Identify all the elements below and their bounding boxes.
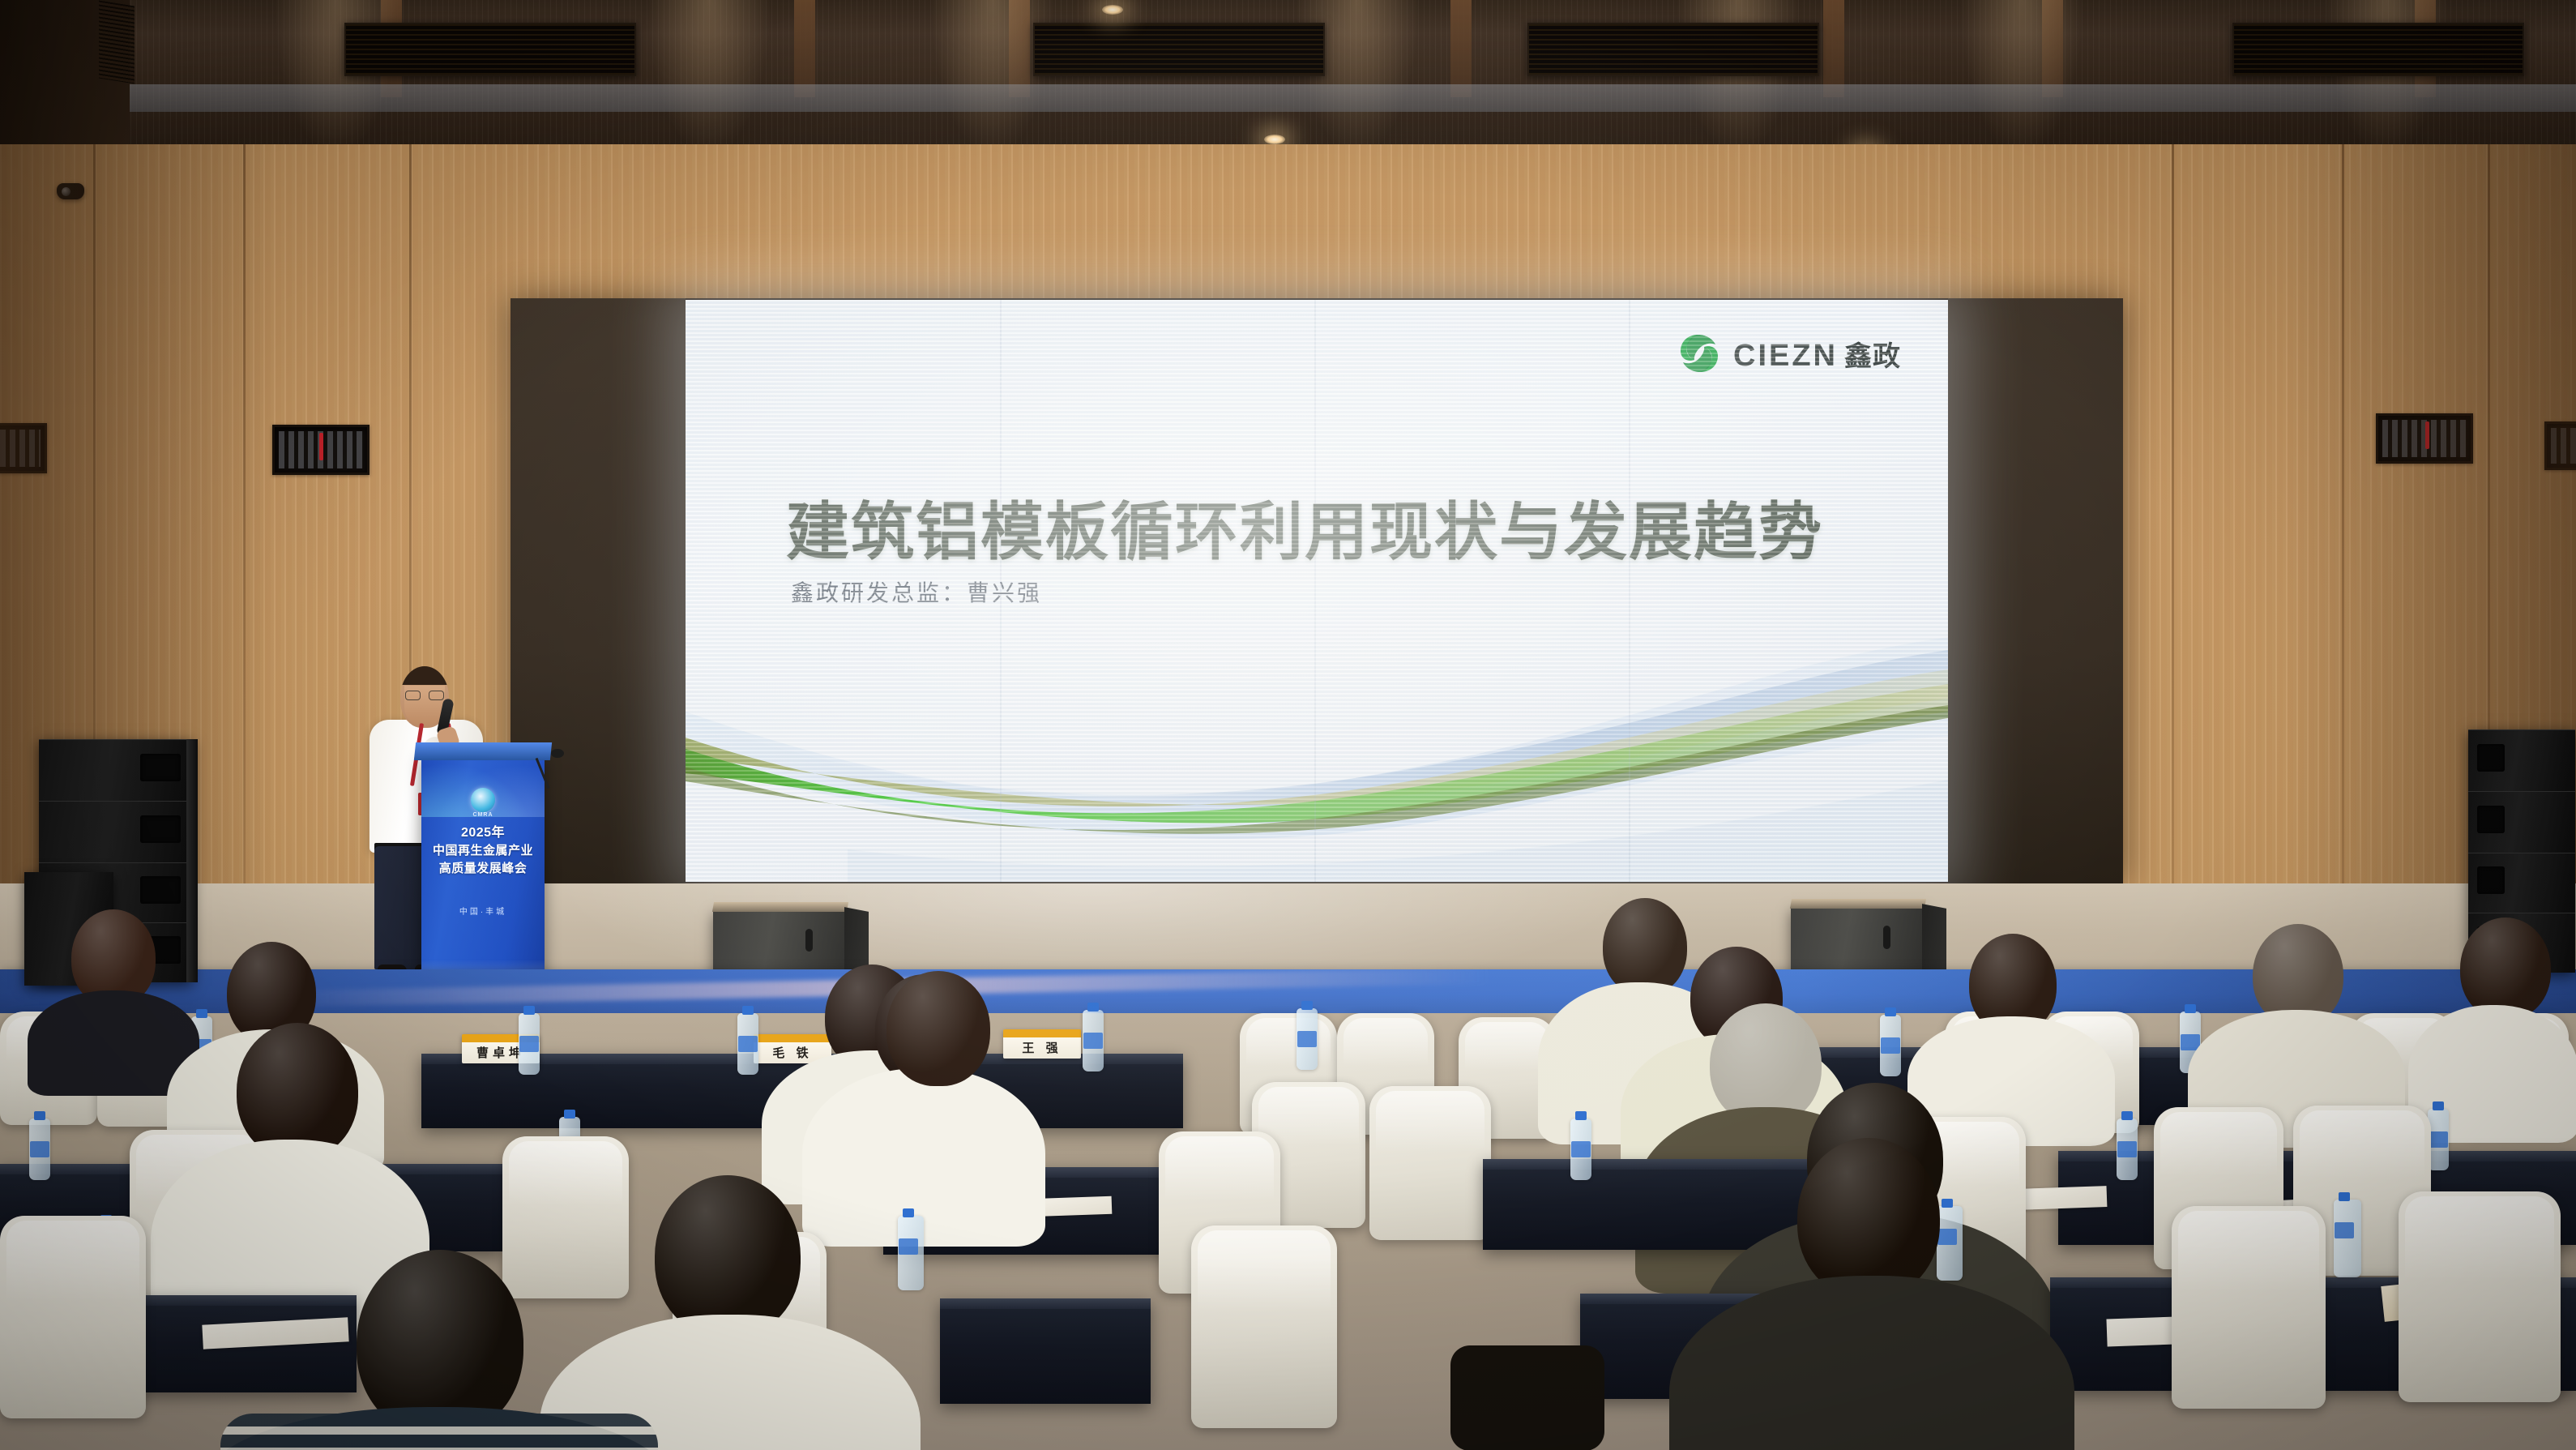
ciezn-leaf-mark-icon bbox=[1677, 331, 1722, 376]
line-array-module bbox=[39, 739, 193, 801]
audience-chair bbox=[1191, 1225, 1337, 1428]
ceiling-beam bbox=[1450, 0, 1472, 97]
water-bottle bbox=[1937, 1206, 1963, 1281]
audience-shoulders bbox=[802, 1068, 1045, 1247]
microphone-capsule-icon bbox=[551, 749, 564, 758]
cmra-logo-icon bbox=[471, 788, 495, 812]
slide-title: 建筑铝模板循环利用现状与发展趋势 bbox=[786, 481, 1823, 572]
water-bottle bbox=[519, 1013, 540, 1075]
slide-logo-cjk: 鑫政 bbox=[1844, 334, 1901, 374]
table-top-edge bbox=[940, 1298, 1151, 1309]
stage-monitor-wedge bbox=[1791, 906, 1925, 976]
audience-head bbox=[1797, 1138, 1940, 1298]
water-bottle bbox=[29, 1119, 50, 1180]
audience-striped-shirt bbox=[220, 1414, 658, 1450]
cmra-logo-text: CMRA bbox=[473, 812, 493, 818]
conference-hall-scene: CIEZN 鑫政 建筑铝模板循环利用现状与发展趋势 鑫政研发总监：曹兴强 bbox=[0, 0, 2576, 1450]
audience-table bbox=[940, 1298, 1151, 1404]
wall-decorative-niche bbox=[272, 425, 370, 475]
water-bottle bbox=[2334, 1200, 2361, 1277]
water-bottle bbox=[1880, 1015, 1901, 1076]
audience-chair bbox=[2172, 1206, 2326, 1409]
audience-head bbox=[237, 1023, 358, 1159]
ceiling-downlight bbox=[1102, 5, 1123, 15]
water-bottle bbox=[2117, 1119, 2138, 1180]
led-panel-seam bbox=[1629, 300, 1630, 882]
ceiling-air-grille bbox=[1033, 23, 1325, 76]
ceiling-air-grille bbox=[1527, 23, 1819, 76]
table-nameplate: 王 强 bbox=[1003, 1029, 1081, 1059]
stage-monitor-wedge bbox=[713, 909, 848, 977]
array-port bbox=[2477, 744, 2505, 772]
ceiling-corner-shadow bbox=[0, 0, 130, 152]
screen-recess: CIEZN 鑫政 建筑铝模板循环利用现状与发展趋势 鑫政研发总监：曹兴强 bbox=[511, 298, 2123, 883]
ceiling bbox=[0, 0, 2576, 152]
led-video-wall[interactable]: CIEZN 鑫政 建筑铝模板循环利用现状与发展趋势 鑫政研发总监：曹兴强 bbox=[686, 300, 1948, 882]
line-array-module bbox=[2468, 853, 2575, 913]
slide-subtitle: 鑫政研发总监：曹兴强 bbox=[791, 575, 1042, 608]
slide-wave-graphic bbox=[686, 614, 1948, 882]
audience-chair bbox=[1369, 1086, 1491, 1240]
screen-side-panel-right bbox=[1948, 298, 2123, 883]
array-port bbox=[140, 876, 180, 904]
wedge-port-slot bbox=[1883, 926, 1890, 949]
podium-line-year: 2025年 bbox=[421, 823, 545, 842]
nameplate-text: 曹卓坤 bbox=[476, 1044, 525, 1061]
niche-red-accent bbox=[319, 433, 323, 461]
slide-logo-text: CIEZN 鑫政 bbox=[1733, 334, 1901, 374]
audience-chair bbox=[2399, 1191, 2561, 1402]
audience-chair bbox=[502, 1136, 629, 1298]
audience-head bbox=[2460, 917, 2551, 1020]
podium: CMRA 2025年 中国再生金属产业 高质量发展峰会 中国·丰城 bbox=[421, 754, 545, 997]
nameplate-text: 王 强 bbox=[1022, 1039, 1062, 1056]
slide-logo-latin: CIEZN bbox=[1733, 339, 1838, 374]
ceiling-beam bbox=[1009, 0, 1030, 97]
ceiling-beam bbox=[2042, 0, 2063, 97]
water-bottle bbox=[898, 1216, 924, 1290]
water-bottle bbox=[1083, 1010, 1104, 1071]
ceiling-downlight bbox=[1264, 135, 1285, 144]
line-array-module bbox=[2468, 791, 2575, 853]
slide-logo: CIEZN 鑫政 bbox=[1677, 331, 1901, 376]
line-array-module bbox=[39, 801, 193, 862]
array-port bbox=[2477, 866, 2505, 894]
array-port bbox=[140, 754, 180, 782]
wall-panel-seam bbox=[2172, 144, 2174, 965]
podium-line-industry: 中国再生金属产业 bbox=[421, 842, 545, 860]
podium-event-title: 2025年 中国再生金属产业 高质量发展峰会 bbox=[421, 823, 545, 878]
audience-head bbox=[655, 1175, 801, 1337]
line-array-module bbox=[2468, 729, 2575, 791]
audience-bag bbox=[1450, 1345, 1604, 1450]
audience-chair bbox=[0, 1216, 146, 1418]
podium-city-label: 中国·丰城 bbox=[421, 905, 545, 917]
array-port bbox=[2477, 806, 2505, 834]
audience-head bbox=[886, 971, 990, 1086]
led-panel-seam bbox=[1314, 300, 1316, 882]
podium-line-summit: 高质量发展峰会 bbox=[421, 860, 545, 878]
water-bottle bbox=[1297, 1008, 1318, 1070]
ceiling-grid-panel bbox=[99, 1, 135, 84]
wedge-side-face bbox=[1922, 904, 1946, 978]
nameplate-text: 毛 铁 bbox=[772, 1044, 812, 1061]
ceiling-beam bbox=[1823, 0, 1844, 97]
array-port bbox=[140, 815, 180, 844]
ceiling-soffit bbox=[0, 84, 2576, 112]
water-bottle bbox=[737, 1013, 758, 1075]
ceiling-beam bbox=[794, 0, 815, 97]
speaker-glasses-icon bbox=[405, 691, 444, 701]
audience-head bbox=[1603, 898, 1687, 995]
wedge-port-slot bbox=[805, 929, 813, 952]
ceiling-air-grille bbox=[344, 23, 636, 76]
ceiling-air-grille bbox=[2232, 23, 2524, 76]
water-bottle bbox=[1570, 1119, 1591, 1180]
wedge-top-face bbox=[1790, 899, 1926, 909]
array-rigging-bracket bbox=[186, 739, 198, 982]
wedge-top-face bbox=[712, 902, 848, 912]
